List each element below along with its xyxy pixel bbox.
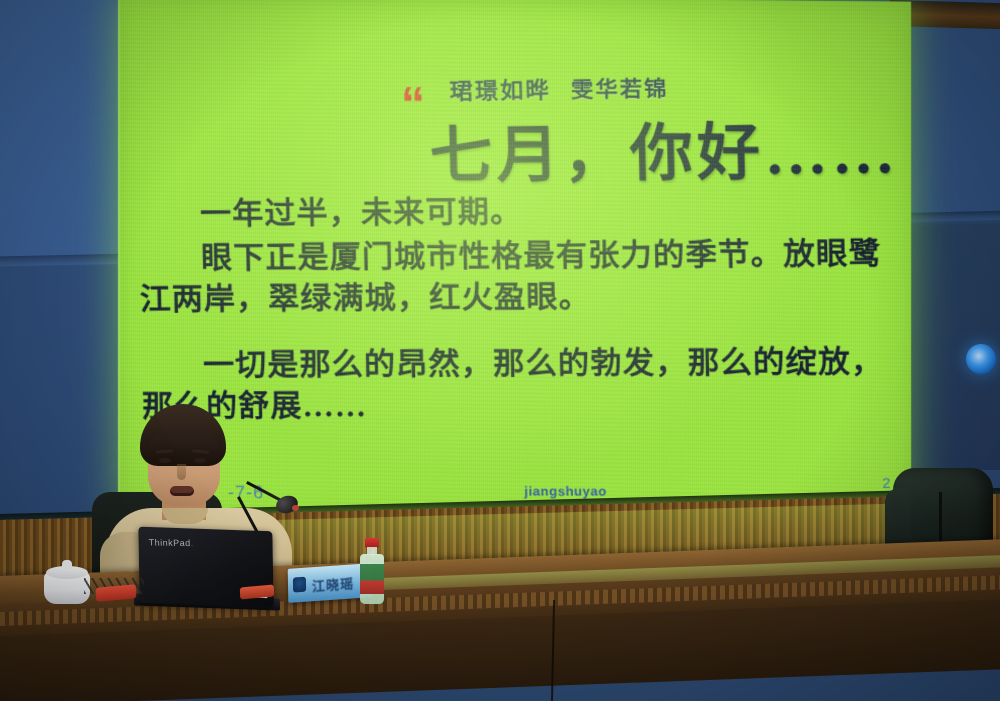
microphone-indicator-icon (292, 505, 299, 511)
presenter-mouth (170, 486, 194, 496)
water-bottle[interactable] (360, 538, 384, 604)
bottle-label (360, 564, 384, 594)
laptop-brand-logo: ThinkPad. (148, 537, 193, 548)
nameplate-emblem-icon (293, 577, 306, 593)
slide-paragraph-1: 一年过半，未来可期。 (138, 188, 897, 235)
slide-body: 一年过半，未来可期。 眼下正是厦门城市性格最有张力的季节。放眼鹭江两岸，翠绿满城… (138, 188, 901, 429)
slide-subtitle: 珺璟如晔雯华若锦 (449, 69, 669, 107)
nameplate-label: 江晓瑶 (312, 573, 354, 595)
laptop-brand-text: ThinkPad (148, 537, 190, 548)
wall-right-panel (896, 0, 1000, 470)
laptop-brand-dot: . (190, 538, 193, 548)
blue-indicator-light (966, 344, 996, 374)
slide-subtitle-part-a: 珺璟如晔 (449, 78, 551, 105)
presenter-eye-right (194, 458, 206, 463)
presenter-hair (140, 404, 226, 466)
conference-room-scene: “ 珺璟如晔雯华若锦 七月，你好…… 一年过半，未来可期。 眼下正是厦门城市性格… (0, 0, 1000, 701)
presenter-nose (177, 464, 186, 480)
presenter-eye-left (159, 458, 171, 463)
quote-mark-icon: “ (401, 81, 423, 129)
teacup-lid-knob (62, 560, 72, 569)
slide-page-number: 2 (882, 475, 890, 491)
slide-footer-author: jiangshuyao (524, 484, 607, 499)
slide-headline: 七月，你好…… (428, 99, 899, 195)
slide-subtitle-part-b: 雯华若锦 (571, 71, 669, 104)
slide-paragraph-2: 眼下正是厦门城市性格最有张力的季节。放眼鹭江两岸，翠绿满城，红火盈眼。 (139, 232, 899, 320)
